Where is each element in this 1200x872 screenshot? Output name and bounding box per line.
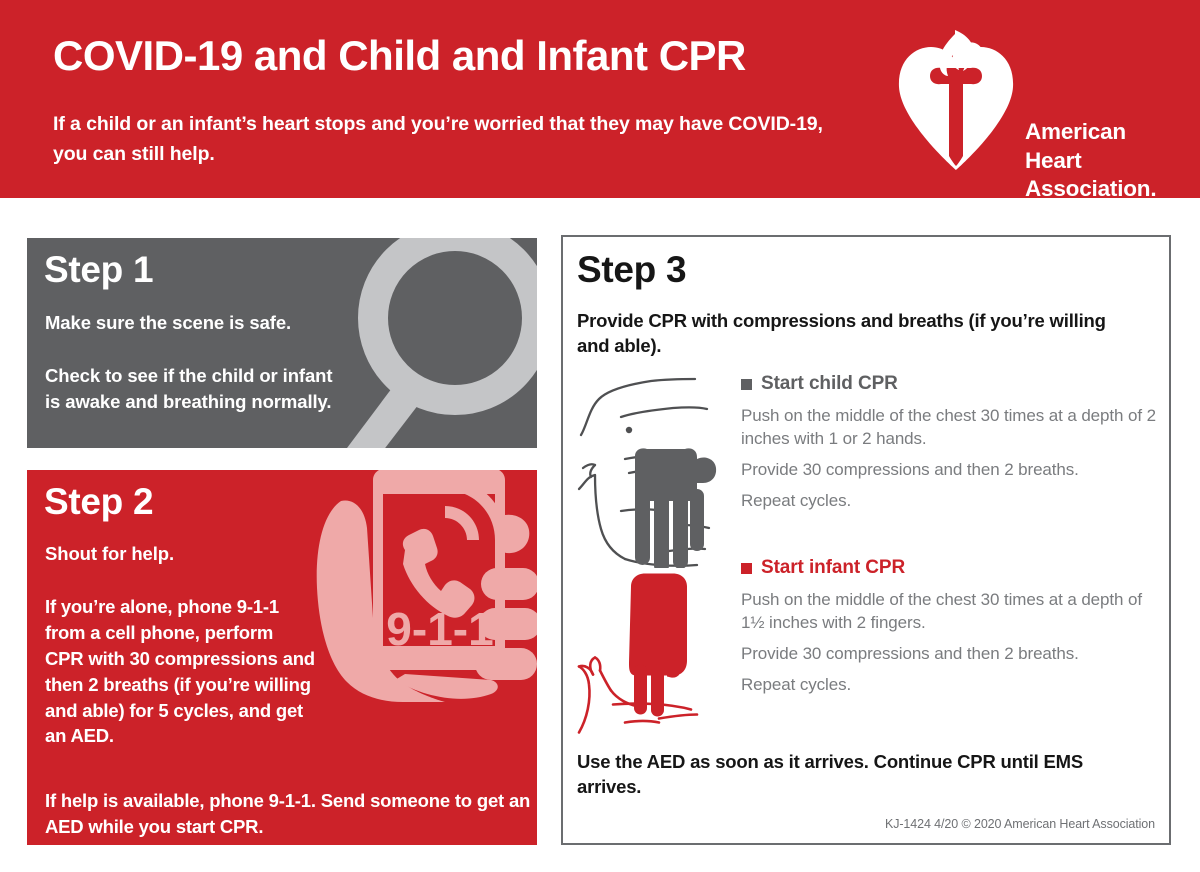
bullet-square-icon [741, 563, 752, 574]
step-2-line-1: Shout for help. [45, 543, 174, 565]
aha-wordmark-line1: American [1025, 118, 1156, 147]
aha-wordmark: American Heart Association. [1025, 118, 1156, 204]
child-cpr-paragraph-3: Repeat cycles. [741, 489, 1161, 512]
american-heart-association-logo: American Heart Association. [897, 30, 1172, 170]
hand-holding-phone-icon: 9-1-1 [295, 470, 537, 718]
infant-cpr-paragraph-1: Push on the middle of the chest 30 times… [741, 588, 1161, 634]
infant-cpr-paragraph-2: Provide 30 compressions and then 2 breat… [741, 642, 1161, 665]
magnifying-glass-icon [305, 238, 537, 448]
step-3-heading: Step 3 [577, 249, 686, 291]
step-2-line-2: If you’re alone, phone 9-1-1 from a cell… [45, 594, 315, 749]
header-banner: COVID-19 and Child and Infant CPR If a c… [0, 0, 1200, 198]
step-1-panel: Step 1 Make sure the scene is safe. Chec… [27, 238, 537, 448]
step-1-line-1: Make sure the scene is safe. [45, 312, 291, 334]
step-2-line-3: If help is available, phone 9-1-1. Send … [45, 788, 535, 840]
infant-chest-compression-illustration [573, 557, 733, 752]
step-1-heading: Step 1 [44, 249, 153, 291]
infant-cpr-title: Start infant CPR [761, 557, 905, 579]
step-3-footer-note: Use the AED as soon as it arrives. Conti… [577, 749, 1137, 799]
copyright-credit: KJ-1424 4/20 © 2020 American Heart Assoc… [885, 817, 1155, 831]
step-2-panel: 9-1-1 Step 2 Shout for help. If you’re a… [27, 470, 537, 845]
infant-cpr-title-row: Start infant CPR [741, 557, 1161, 579]
step-3-panel: Step 3 Provide CPR with compressions and… [561, 235, 1171, 845]
page-title: COVID-19 and Child and Infant CPR [53, 32, 746, 80]
step-1-line-2: Check to see if the child or infant is a… [45, 363, 345, 414]
phone-screen-number: 9-1-1 [386, 603, 493, 655]
bullet-square-icon [741, 379, 752, 390]
infant-cpr-block: Start infant CPR Push on the middle of t… [573, 557, 1163, 737]
child-chest-compression-illustration [573, 373, 733, 568]
child-cpr-block: Start child CPR Push on the middle of th… [573, 373, 1163, 568]
child-cpr-text: Start child CPR Push on the middle of th… [741, 373, 1161, 520]
child-cpr-title-row: Start child CPR [741, 373, 1161, 395]
child-cpr-title: Start child CPR [761, 373, 898, 395]
step-2-heading: Step 2 [44, 481, 153, 523]
child-cpr-paragraph-2: Provide 30 compressions and then 2 breat… [741, 458, 1161, 481]
infant-cpr-text: Start infant CPR Push on the middle of t… [741, 557, 1161, 704]
aha-wordmark-line3: Association. [1025, 175, 1156, 204]
child-cpr-paragraph-1: Push on the middle of the chest 30 times… [741, 404, 1161, 450]
aha-heart-torch-icon [897, 30, 1015, 170]
aha-wordmark-line2: Heart [1025, 147, 1156, 176]
step-3-intro: Provide CPR with compressions and breath… [577, 309, 1142, 359]
page-subtitle: If a child or an infant’s heart stops an… [53, 110, 853, 169]
infant-cpr-paragraph-3: Repeat cycles. [741, 673, 1161, 696]
